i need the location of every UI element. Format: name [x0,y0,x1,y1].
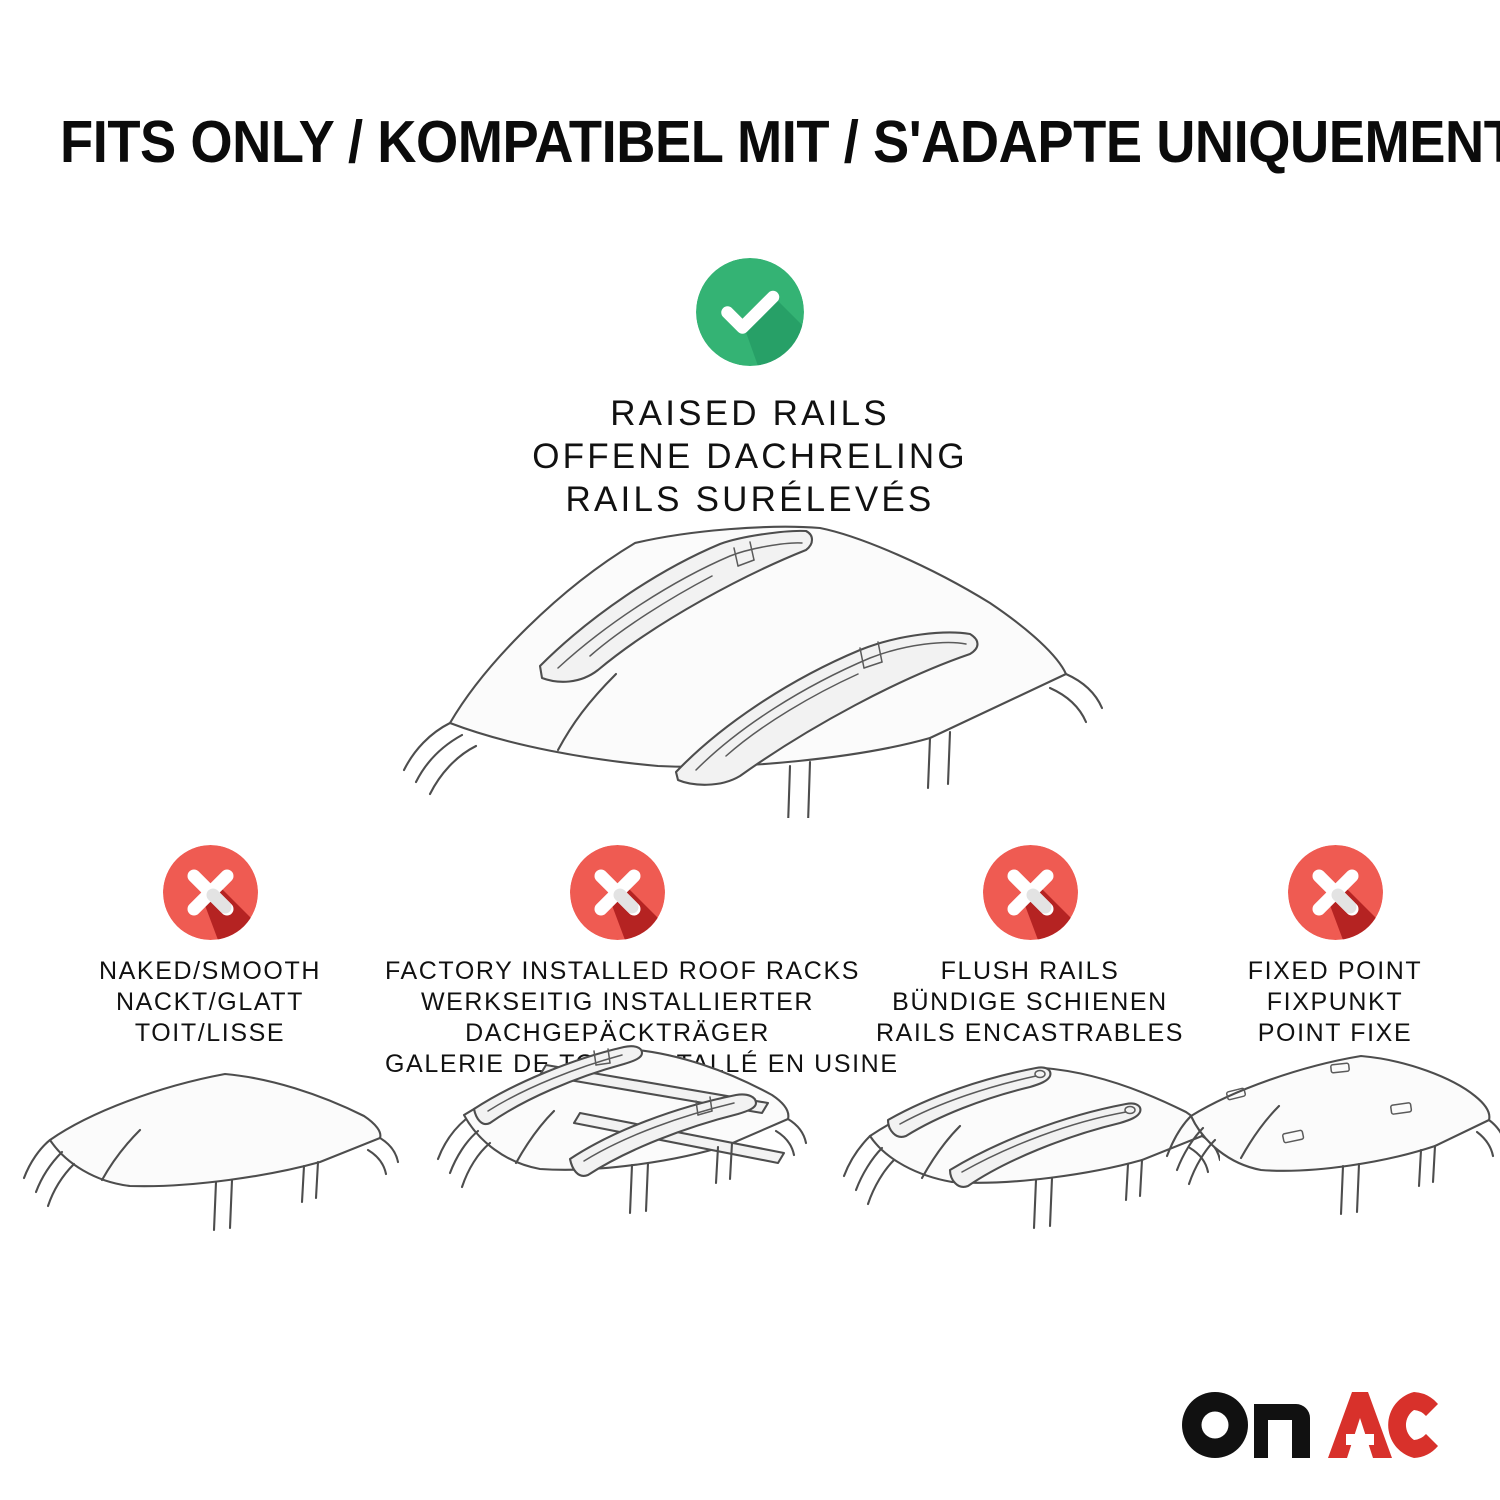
incompatible-label-flush-rails: FLUSH RAILS BÜNDIGE SCHIENEN RAILS ENCAS… [855,956,1205,1049]
label-line-2: NACKT/GLATT [40,987,380,1018]
bare-roof-illustration [20,1050,400,1280]
logo-letter-o [1182,1392,1248,1458]
label-line-1: FACTORY INSTALLED ROOF RACKS [385,956,850,987]
logo-letter-a [1328,1392,1392,1458]
page-title: FITS ONLY / KOMPATIBEL MIT / S'ADAPTE UN… [60,108,1440,176]
label-line-3: POINT FIXE [1205,1018,1465,1049]
raised-rails-illustration [390,488,1110,818]
check-circle-icon [696,258,804,366]
compatible-label-line-2: OFFENE DACHRELING [0,435,1500,478]
label-line-2: FIXPUNKT [1205,987,1465,1018]
label-line-3: RAILS ENCASTRABLES [855,1018,1205,1049]
incompatible-item-flush-rails: FLUSH RAILS BÜNDIGE SCHIENEN RAILS ENCAS… [855,845,1205,1049]
logo-letter-c [1388,1392,1438,1458]
label-line-1: NAKED/SMOOTH [40,956,380,987]
cross-circle-icon [1288,845,1383,940]
incompatible-item-fixed-point: FIXED POINT FIXPUNKT POINT FIXE [1205,845,1465,1049]
fixed-point-illustration [1165,1050,1500,1280]
incompatible-section: NAKED/SMOOTH NACKT/GLATT TOIT/LISSE [0,845,1500,1325]
compatible-section: RAISED RAILS OFFENE DACHRELING RAILS SUR… [0,258,1500,521]
compatible-label-line-1: RAISED RAILS [0,392,1500,435]
incompatible-label-fixed-point: FIXED POINT FIXPUNKT POINT FIXE [1205,956,1465,1049]
incompatible-label-naked-smooth: NAKED/SMOOTH NACKT/GLATT TOIT/LISSE [40,956,380,1049]
incompatible-item-factory-roof-racks: FACTORY INSTALLED ROOF RACKS WERKSEITIG … [385,845,850,1080]
cross-circle-icon [570,845,665,940]
flush-rails-illustration [840,1050,1220,1280]
label-line-1: FLUSH RAILS [855,956,1205,987]
cross-circle-icon [163,845,258,940]
label-line-2: BÜNDIGE SCHIENEN [855,987,1205,1018]
fitment-infographic: FITS ONLY / KOMPATIBEL MIT / S'ADAPTE UN… [0,0,1500,1500]
label-line-3: TOIT/LISSE [40,1018,380,1049]
factory-crossbars-illustration [428,1041,808,1271]
logo-letter-m [1254,1404,1310,1458]
cross-circle-icon [983,845,1078,940]
label-line-2: WERKSEITIG INSTALLIERTER [385,987,850,1018]
incompatible-item-naked-smooth: NAKED/SMOOTH NACKT/GLATT TOIT/LISSE [40,845,380,1049]
omac-logo [1180,1390,1440,1460]
label-line-1: FIXED POINT [1205,956,1465,987]
